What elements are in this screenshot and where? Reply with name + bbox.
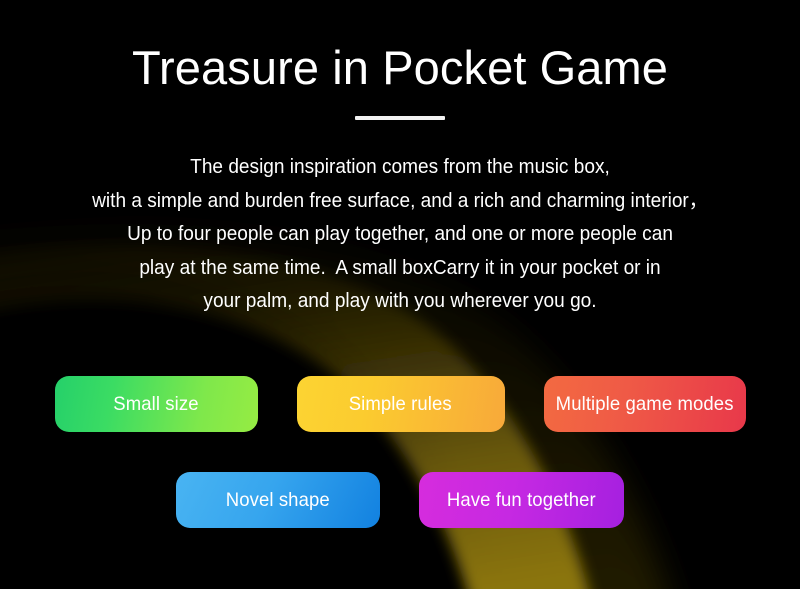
- description-line: with a simple and burden free surface, a…: [28, 184, 772, 218]
- feature-pill-simple-rules[interactable]: Simple rules: [297, 376, 505, 432]
- feature-pill-multiple-game-modes[interactable]: Multiple game modes: [544, 376, 746, 432]
- feature-pill-row-1: Small size Simple rules Multiple game mo…: [0, 376, 800, 432]
- feature-pill-novel-shape[interactable]: Novel shape: [176, 472, 380, 528]
- feature-pill-label: Novel shape: [226, 489, 330, 512]
- feature-pill-have-fun-together[interactable]: Have fun together: [419, 472, 624, 528]
- header: Treasure in Pocket Game: [0, 0, 800, 120]
- promo-banner: Treasure in Pocket Game The design inspi…: [0, 0, 800, 589]
- description-paragraph: The design inspiration comes from the mu…: [28, 150, 772, 318]
- description-line: play at the same time. A small boxCarry …: [28, 251, 772, 285]
- page-title: Treasure in Pocket Game: [0, 0, 800, 95]
- feature-pill-label: Have fun together: [447, 489, 596, 512]
- feature-pill-label: Simple rules: [349, 393, 452, 416]
- feature-pill-row-2: Novel shape Have fun together: [0, 472, 800, 528]
- feature-pill-label: Multiple game modes: [556, 393, 734, 416]
- description-line: The design inspiration comes from the mu…: [28, 150, 772, 184]
- feature-pill-small-size[interactable]: Small size: [55, 376, 258, 432]
- feature-pill-label: Small size: [113, 393, 198, 416]
- description-line: your palm, and play with you wherever yo…: [28, 284, 772, 318]
- title-divider: [355, 116, 445, 120]
- description-line: Up to four people can play together, and…: [28, 217, 772, 251]
